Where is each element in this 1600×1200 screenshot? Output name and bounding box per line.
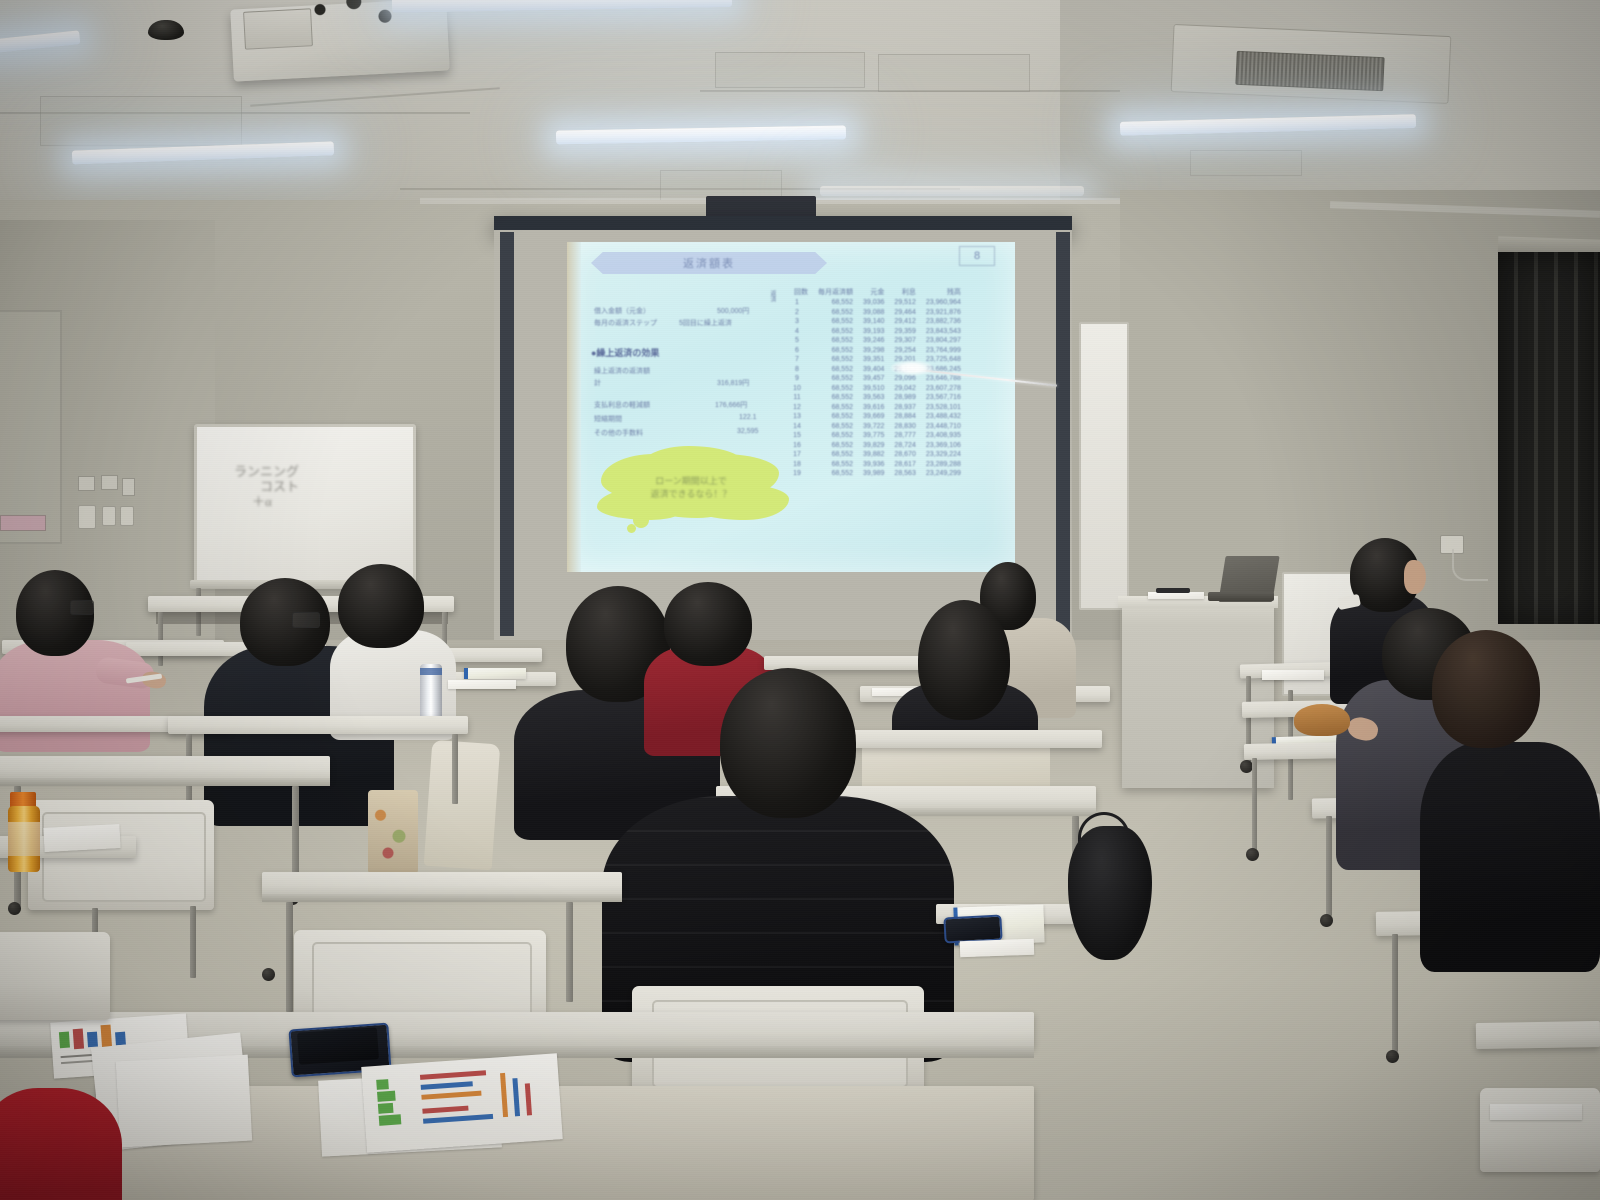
slide-table-cell: 13 <box>781 412 813 422</box>
attendee-navy-glasses <box>292 612 320 628</box>
slide-table-cell: 23,843,543 <box>921 327 966 337</box>
slide-table-cell: 6 <box>781 346 813 356</box>
slide-table-cell: 23,921,876 <box>921 308 966 318</box>
floral-tote-bag[interactable] <box>368 790 418 874</box>
wall-notice <box>101 475 118 490</box>
slide-table-cell: 68,552 <box>813 393 858 403</box>
slide-table-cell: 68,552 <box>813 460 858 470</box>
slide-table-cell: 68,552 <box>813 431 858 441</box>
wall-conduit <box>1452 549 1488 581</box>
attendee-r3-head <box>1432 630 1540 748</box>
chair-leg <box>190 906 196 978</box>
slide-table-cell: 68,552 <box>813 336 858 346</box>
slide-table-cell: 11 <box>781 393 813 403</box>
dome-camera-icon <box>148 20 184 40</box>
desk-row-center-4 <box>262 872 622 896</box>
slide-table-cell: 9 <box>781 374 813 384</box>
slide-table-cell: 3 <box>781 317 813 327</box>
slide-table-cell: 39,298 <box>858 346 889 356</box>
slide-table-cell: 28,617 <box>889 460 920 470</box>
slide-table-cell: 68,552 <box>813 384 858 394</box>
slide-col-header-1: 毎月返済額 <box>813 288 858 298</box>
slide-table-row: 368,55239,14029,41223,882,736 <box>781 317 966 327</box>
chair-right-front[interactable] <box>1480 1088 1600 1172</box>
slide-table-cell: 68,552 <box>813 355 858 365</box>
slide-table-row: 568,55239,24629,30723,804,297 <box>781 336 966 346</box>
slide-table-cell: 23,329,224 <box>921 450 966 460</box>
slide-table-row: 1668,55239,82928,72423,369,106 <box>781 441 966 451</box>
slide-table-cell: 39,669 <box>858 412 889 422</box>
chair-caster <box>262 968 275 981</box>
handout-paper <box>1262 670 1324 680</box>
slide-table-cell: 29,464 <box>889 308 920 318</box>
slide-table-cell: 23,607,278 <box>921 384 966 394</box>
slide-banner: 返済額表 <box>591 252 827 274</box>
table-leg <box>286 902 293 1012</box>
slide-banner-label: 返済額表 <box>683 255 735 271</box>
slide-table-cell: 29,307 <box>889 336 920 346</box>
table-caster <box>8 902 21 915</box>
slide-note-label-2: ●繰上返済の効果 <box>591 346 659 359</box>
slide-table-row: 1968,55239,98928,56323,249,299 <box>781 469 966 479</box>
slide-col-header-4: 残高 <box>921 288 966 298</box>
slide-table-cell: 68,552 <box>813 327 858 337</box>
slide-table-cell: 28,670 <box>889 450 920 460</box>
slide-table-cell: 23,528,101 <box>921 403 966 413</box>
slide-table-cell: 23,408,935 <box>921 431 966 441</box>
blue-folder[interactable] <box>464 668 526 679</box>
slide-table-cell: 39,510 <box>858 384 889 394</box>
slide-table-cell: 23,567,716 <box>921 393 966 403</box>
slide-amortization-table: 回数 毎月返済額 元金 利息 残高 168,55239,03629,51223,… <box>781 288 966 479</box>
slide-table-cell: 39,193 <box>858 327 889 337</box>
ac-grille <box>1235 51 1384 91</box>
slide-table-cell: 28,884 <box>889 412 920 422</box>
bottle-label <box>8 822 40 856</box>
slide-col-header-0: 回数 <box>781 288 813 298</box>
slide-table-cell: 39,563 <box>858 393 889 403</box>
slide-table-cell: 68,552 <box>813 469 858 479</box>
slide-table-cell: 68,552 <box>813 317 858 327</box>
slide-note-label-6: 短縮期間 <box>594 414 622 424</box>
slide-callout-tail-small <box>627 524 636 533</box>
screen-right-edge <box>1056 232 1070 636</box>
slide-table-cell: 29,254 <box>889 346 920 356</box>
slide-table-cell: 39,936 <box>858 460 889 470</box>
slide-table-cell: 68,552 <box>813 374 858 384</box>
slide-table-cell: 39,246 <box>858 336 889 346</box>
slide-table-cell: 10 <box>781 384 813 394</box>
slide-table-cell: 68,552 <box>813 298 858 308</box>
whiteboard-scribble-line2: コスト <box>260 479 299 494</box>
ceiling-panel <box>715 52 865 88</box>
slide-table-cell: 28,989 <box>889 393 920 403</box>
slide-table-cell: 23,804,297 <box>921 336 966 346</box>
coat-on-chair <box>424 740 501 870</box>
screen-roller-housing <box>706 196 816 218</box>
slide-table-cell: 29,359 <box>889 327 920 337</box>
slide-note-value-7: 32,595 <box>737 428 758 435</box>
attendee-longhair-head <box>918 600 1010 720</box>
slide-table-cell: 28,830 <box>889 422 920 432</box>
ceiling-light <box>820 186 1084 196</box>
slide-table-row: 1068,55239,51029,04223,607,278 <box>781 384 966 394</box>
screen-left-edge <box>500 232 514 636</box>
slide-table-vertical-header: 返済 <box>768 290 775 302</box>
slide-table-cell: 2 <box>781 308 813 318</box>
thermos-band <box>420 668 442 675</box>
pointer-light-glow <box>890 360 934 376</box>
slide-note-label-5: 支払利息の軽減額 <box>594 400 650 410</box>
slide-table-row: 1368,55239,66928,88423,488,432 <box>781 412 966 422</box>
slide-note-value-1: 5回目に繰上返済 <box>679 318 732 328</box>
slide-table-row: 1268,55239,61628,93723,528,101 <box>781 403 966 413</box>
slide-table-row: 1768,55239,88228,67023,329,224 <box>781 450 966 460</box>
photo-scene: 返済額表 8 借入金額（元金） 500,000円 毎月の返済ステップ 5回目に繰… <box>0 0 1600 1200</box>
slide-table-cell: 18 <box>781 460 813 470</box>
slide-table-cell: 68,552 <box>813 422 858 432</box>
slide-note-label-7: その他の手数料 <box>594 428 643 438</box>
slide-table-cell: 29,412 <box>889 317 920 327</box>
slide-table-cell: 39,989 <box>858 469 889 479</box>
slide-note-label-0: 借入金額（元金） <box>594 306 650 316</box>
slide-table-cell: 68,552 <box>813 403 858 413</box>
slide-page-marker: 8 <box>959 246 995 266</box>
slide-table-cell: 8 <box>781 365 813 375</box>
slide-table-cell: 39,616 <box>858 403 889 413</box>
ceiling-panel <box>878 54 1030 92</box>
wall-notice <box>122 478 135 496</box>
slide-table-row: 768,55239,35129,20123,725,648 <box>781 355 966 365</box>
table-caster <box>1246 848 1259 861</box>
podium-papers <box>1148 592 1204 599</box>
door-frame[interactable] <box>0 310 62 544</box>
slide-table-row: 1868,55239,93628,61723,289,288 <box>781 460 966 470</box>
laptop-base[interactable] <box>1208 592 1274 601</box>
light-switch[interactable] <box>102 506 116 526</box>
light-switch[interactable] <box>120 506 134 526</box>
slide-table-cell: 39,351 <box>858 355 889 365</box>
slide-table-cell: 68,552 <box>813 346 858 356</box>
slide-table-cell: 39,457 <box>858 374 889 384</box>
slide-col-header-3: 利息 <box>889 288 920 298</box>
whiteboard-scribble: ランニング コスト ＋α <box>234 464 299 509</box>
handout-paper <box>43 824 120 852</box>
slide-note-value-0: 500,000円 <box>717 306 749 316</box>
chair-foreground-left[interactable] <box>0 932 110 1020</box>
attendee-pink-body <box>0 640 150 752</box>
handout-paper <box>1490 1104 1582 1120</box>
slide-table-cell: 23,960,964 <box>921 298 966 308</box>
handout-colour-chart-2 <box>361 1053 563 1152</box>
slide-table-cell: 39,140 <box>858 317 889 327</box>
slide-table-cell: 1 <box>781 298 813 308</box>
slide-table-cell: 68,552 <box>813 441 858 451</box>
ceiling-panel <box>40 96 242 146</box>
slide-table-row: 968,55239,45729,09623,646,788 <box>781 374 966 384</box>
slide-table-cell: 7 <box>781 355 813 365</box>
slide-table-cell: 23,764,999 <box>921 346 966 356</box>
slide-table-cell: 39,829 <box>858 441 889 451</box>
wall-notice <box>78 476 95 491</box>
table-leg <box>1326 816 1332 916</box>
desk-row-left-4 <box>0 756 330 780</box>
slide-table-cell: 23,289,288 <box>921 460 966 470</box>
desk-row-right-6 <box>1476 1021 1600 1049</box>
slide-note-label-1: 毎月の返済ステップ <box>594 318 657 328</box>
slide-table-row: 1568,55239,77528,77723,408,935 <box>781 431 966 441</box>
slide-table-cell: 39,775 <box>858 431 889 441</box>
whiteboard-scribble-line3: ＋α <box>252 494 272 509</box>
slide-table-row: 1468,55239,72228,83023,448,710 <box>781 422 966 432</box>
handout-paper <box>448 680 516 689</box>
handout-paper-2 <box>116 1055 252 1148</box>
mobile-whiteboard <box>1079 322 1129 610</box>
slide-table-cell: 12 <box>781 403 813 413</box>
window-blinds[interactable] <box>1498 252 1600 624</box>
slide-col-header-2: 元金 <box>858 288 889 298</box>
slide-table-cell: 28,563 <box>889 469 920 479</box>
slide-table-cell: 15 <box>781 431 813 441</box>
slide-table-cell: 68,552 <box>813 412 858 422</box>
attendee-r1-face <box>1404 560 1426 594</box>
ceiling-panel <box>1190 150 1302 176</box>
slide-table-cell: 68,552 <box>813 308 858 318</box>
slide-table-cell: 39,036 <box>858 298 889 308</box>
slide-table-cell: 39,404 <box>858 365 889 375</box>
slide-note-value-5: 176,666円 <box>715 400 747 410</box>
table-leg <box>452 734 458 804</box>
table-leg <box>1252 758 1257 850</box>
slide-note-value-4: 316,819円 <box>717 378 749 388</box>
slide-table-cell: 23,369,106 <box>921 441 966 451</box>
projected-slide: 返済額表 8 借入金額（元金） 500,000円 毎月の返済ステップ 5回目に繰… <box>567 242 1015 572</box>
slide-table-row: 668,55239,29829,25423,764,999 <box>781 346 966 356</box>
brown-hat <box>1294 704 1350 736</box>
slide-edge-strip <box>567 242 581 572</box>
table-leg <box>158 612 163 666</box>
attendee-puffer-head <box>720 668 856 818</box>
whiteboard-scribble-line1: ランニング <box>234 464 299 479</box>
slide-table-row: 1168,55239,56328,98923,567,716 <box>781 393 966 403</box>
slide-note-label-3: 繰上返済の返済額 <box>594 366 650 376</box>
table-caster <box>1386 1050 1399 1063</box>
slide-table-cell: 68,552 <box>813 365 858 375</box>
wall-notice <box>0 515 46 531</box>
slide-table-cell: 23,882,736 <box>921 317 966 327</box>
slide-table-cell: 39,088 <box>858 308 889 318</box>
attendee-pink-glasses <box>70 600 94 615</box>
slide-table-cell: 39,882 <box>858 450 889 460</box>
slide-table-cell: 29,512 <box>889 298 920 308</box>
slide-table-cell: 5 <box>781 336 813 346</box>
slide-table-row: 468,55239,19329,35923,843,543 <box>781 327 966 337</box>
table-caster <box>1320 914 1333 927</box>
desk-edge <box>262 894 622 902</box>
slide-callout-line2: 返済できるなら！？ <box>651 489 732 499</box>
slide-table-cell: 28,777 <box>889 431 920 441</box>
slide-table-cell: 28,724 <box>889 441 920 451</box>
slide-table-cell: 4 <box>781 327 813 337</box>
slide-note-label-4: 計 <box>594 378 601 388</box>
desk-row-left-3 <box>168 716 468 734</box>
slide-callout-text: ローン期間以上で返済できるなら！？ <box>651 475 732 501</box>
marker-pen[interactable] <box>1156 588 1190 593</box>
attendee-r3-body <box>1420 742 1600 972</box>
smartphone-screen[interactable] <box>297 1027 379 1065</box>
slide-note-value-6: 122.1 <box>739 414 757 421</box>
table-leg <box>1392 934 1398 1052</box>
table-leg <box>566 902 573 1002</box>
slide-callout-line1: ローン期間以上で <box>655 476 727 486</box>
light-switch[interactable] <box>78 505 96 529</box>
slide-table-cell: 17 <box>781 450 813 460</box>
slide-table-cell: 14 <box>781 422 813 432</box>
slide-table-cell: 19 <box>781 469 813 479</box>
slide-page-number: 8 <box>974 250 980 262</box>
slide-table-row: 268,55239,08829,46423,921,876 <box>781 308 966 318</box>
desk-row-center-2 <box>846 730 1102 748</box>
desk-edge <box>0 778 330 786</box>
slide-table-cell: 23,249,299 <box>921 469 966 479</box>
slide-table-cell: 23,448,710 <box>921 422 966 432</box>
attendee-white-head <box>338 564 424 648</box>
slide-table-header-row: 回数 毎月返済額 元金 利息 残高 <box>781 288 966 298</box>
slide-table-cell: 29,042 <box>889 384 920 394</box>
slide-table-cell: 39,722 <box>858 422 889 432</box>
slide-table-cell: 28,937 <box>889 403 920 413</box>
slide-table-cell: 16 <box>781 441 813 451</box>
slide-table-cell: 68,552 <box>813 450 858 460</box>
handout-paper <box>960 939 1035 958</box>
slide-callout-bubble: ローン期間以上で返済できるなら！？ <box>629 458 753 518</box>
slide-table-cell: 23,488,432 <box>921 412 966 422</box>
attendee-red-head <box>664 582 752 666</box>
attendee-redcoat-body <box>0 1088 122 1200</box>
slide-table-row: 168,55239,03629,51223,960,964 <box>781 298 966 308</box>
